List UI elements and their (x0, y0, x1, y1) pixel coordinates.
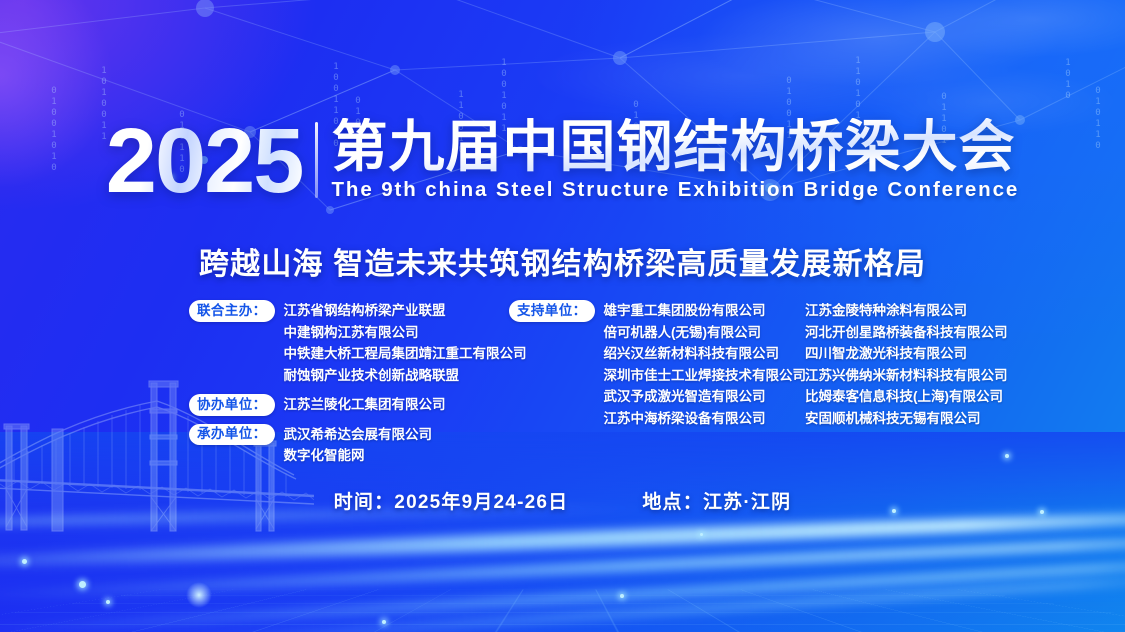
label-pill-co-organizer: 协办单位： (189, 394, 275, 416)
organizer-name: 数字化智能网 (284, 445, 433, 467)
supporter-name: 比姆泰客信息科技(上海)有限公司 (805, 386, 1008, 408)
organizer-name: 武汉希希达会展有限公司 (284, 424, 433, 446)
label-pill-organizer: 承办单位： (189, 424, 275, 446)
organizer-group: 联合主办： 江苏省钢结构桥梁产业联盟 中建钢构江苏有限公司 中铁建大桥工程局集团… (189, 300, 519, 386)
organizer-name-list: 江苏兰陵化工集团有限公司 (284, 394, 446, 416)
supporter-name-list: 江苏金陵特种涂料有限公司 河北开创星路桥装备科技有限公司 四川智龙激光科技有限公… (805, 300, 1008, 429)
organizer-group: 协办单位： 江苏兰陵化工集团有限公司 (189, 394, 519, 416)
slogan: 跨越山海 智造未来共筑钢结构桥梁高质量发展新格局 (0, 239, 1125, 283)
title-english: The 9th china Steel Structure Exhibition… (331, 178, 1019, 202)
supporter-name: 安固顺机械科技无锡有限公司 (805, 408, 1008, 430)
supporter-name: 江苏兴佛纳米新材料科技有限公司 (805, 365, 1008, 387)
organizer-name-list: 江苏省钢结构桥梁产业联盟 中建钢构江苏有限公司 中铁建大桥工程局集团靖江重工有限… (284, 300, 527, 386)
organizer-column-right: 江苏金陵特种涂料有限公司 河北开创星路桥装备科技有限公司 四川智龙激光科技有限公… (805, 300, 1105, 434)
title-chinese: 第九届中国钢结构桥梁大会 (331, 118, 1015, 175)
supporter-name: 河北开创星路桥装备科技有限公司 (805, 322, 1008, 344)
conference-banner: 01001010 1010011 010110 10011010 0101101… (0, 0, 1125, 632)
supporter-name: 江苏中海桥梁设备有限公司 (604, 408, 807, 430)
supporter-name: 江苏金陵特种涂料有限公司 (805, 300, 1008, 322)
organizer-column-middle: 支持单位： 雄宇重工集团股份有限公司 倍可机器人(无锡)有限公司 绍兴汉丝新材料… (509, 300, 809, 434)
event-date: 时间：2025年9月24-26日 (334, 487, 569, 514)
supporter-name: 深圳市佳士工业焊接技术有限公司 (604, 365, 807, 387)
event-info-bar: 时间：2025年9月24-26日 地点：江苏·江阴 (0, 487, 1125, 514)
organizer-group: 支持单位： 雄宇重工集团股份有限公司 倍可机器人(无锡)有限公司 绍兴汉丝新材料… (509, 300, 809, 429)
organizer-name: 江苏兰陵化工集团有限公司 (284, 394, 446, 416)
organizer-group: 江苏金陵特种涂料有限公司 河北开创星路桥装备科技有限公司 四川智龙激光科技有限公… (805, 300, 1105, 429)
organizer-name-list: 武汉希希达会展有限公司 数字化智能网 (284, 424, 433, 467)
organizer-name: 耐蚀钢产业技术创新战略联盟 (284, 365, 527, 387)
label-pill-co-host: 联合主办： (189, 300, 275, 322)
organizer-name: 江苏省钢结构桥梁产业联盟 (284, 300, 527, 322)
supporter-name: 四川智龙激光科技有限公司 (805, 343, 1008, 365)
title-block: 2025 第九届中国钢结构桥梁大会 The 9th china Steel St… (0, 118, 1125, 204)
year-2025: 2025 (106, 118, 303, 204)
supporter-name: 绍兴汉丝新材料科技有限公司 (604, 343, 807, 365)
organizer-name: 中铁建大桥工程局集团靖江重工有限公司 (284, 343, 527, 365)
organizer-name: 中建钢构江苏有限公司 (284, 322, 527, 344)
organizer-column-left: 联合主办： 江苏省钢结构桥梁产业联盟 中建钢构江苏有限公司 中铁建大桥工程局集团… (189, 300, 519, 472)
supporter-name-list: 雄宇重工集团股份有限公司 倍可机器人(无锡)有限公司 绍兴汉丝新材料科技有限公司… (604, 300, 807, 429)
supporter-name: 雄宇重工集团股份有限公司 (604, 300, 807, 322)
label-pill-supporter: 支持单位： (509, 300, 595, 322)
organizer-group: 承办单位： 武汉希希达会展有限公司 数字化智能网 (189, 424, 519, 467)
title-divider (315, 122, 318, 198)
supporter-name: 倍可机器人(无锡)有限公司 (604, 322, 807, 344)
event-location: 地点：江苏·江阴 (642, 487, 791, 514)
supporter-name: 武汉予成激光智造有限公司 (604, 386, 807, 408)
